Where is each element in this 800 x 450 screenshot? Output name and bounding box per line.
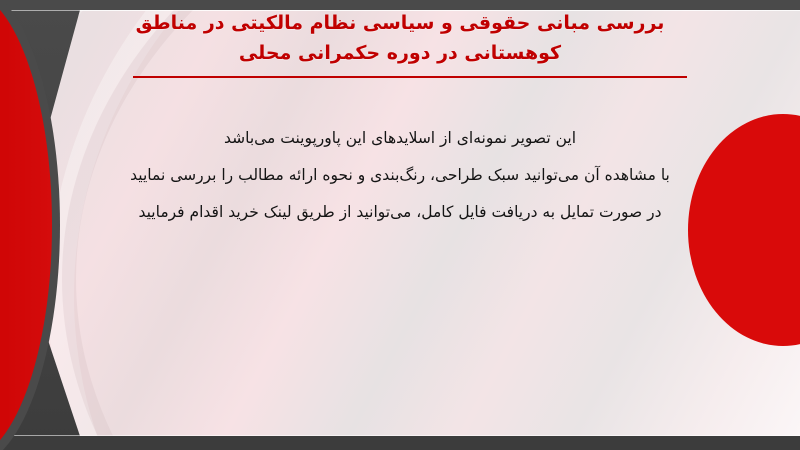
body-line-2: با مشاهده آن می‌توانید سبک طراحی، رنگ‌بن…	[50, 157, 750, 194]
title-line-1: بررسی مبانی حقوقی و سیاسی نظام مالکیتی د…	[112, 8, 688, 38]
title-divider-rule	[133, 76, 687, 78]
panel-bottom-seam	[0, 435, 800, 436]
presentation-slide: بررسی مبانی حقوقی و سیاسی نظام مالکیتی د…	[0, 0, 800, 450]
body-line-1: این تصویر نمونه‌ای از اسلایدهای این پاور…	[50, 120, 750, 157]
slide-body-text: این تصویر نمونه‌ای از اسلایدهای این پاور…	[50, 120, 750, 231]
slide-title: بررسی مبانی حقوقی و سیاسی نظام مالکیتی د…	[112, 8, 688, 68]
title-line-2: کوهستانی در دوره حکمرانی محلی	[112, 38, 688, 68]
body-line-3: در صورت تمایل به دریافت فایل کامل، می‌تو…	[50, 194, 750, 231]
